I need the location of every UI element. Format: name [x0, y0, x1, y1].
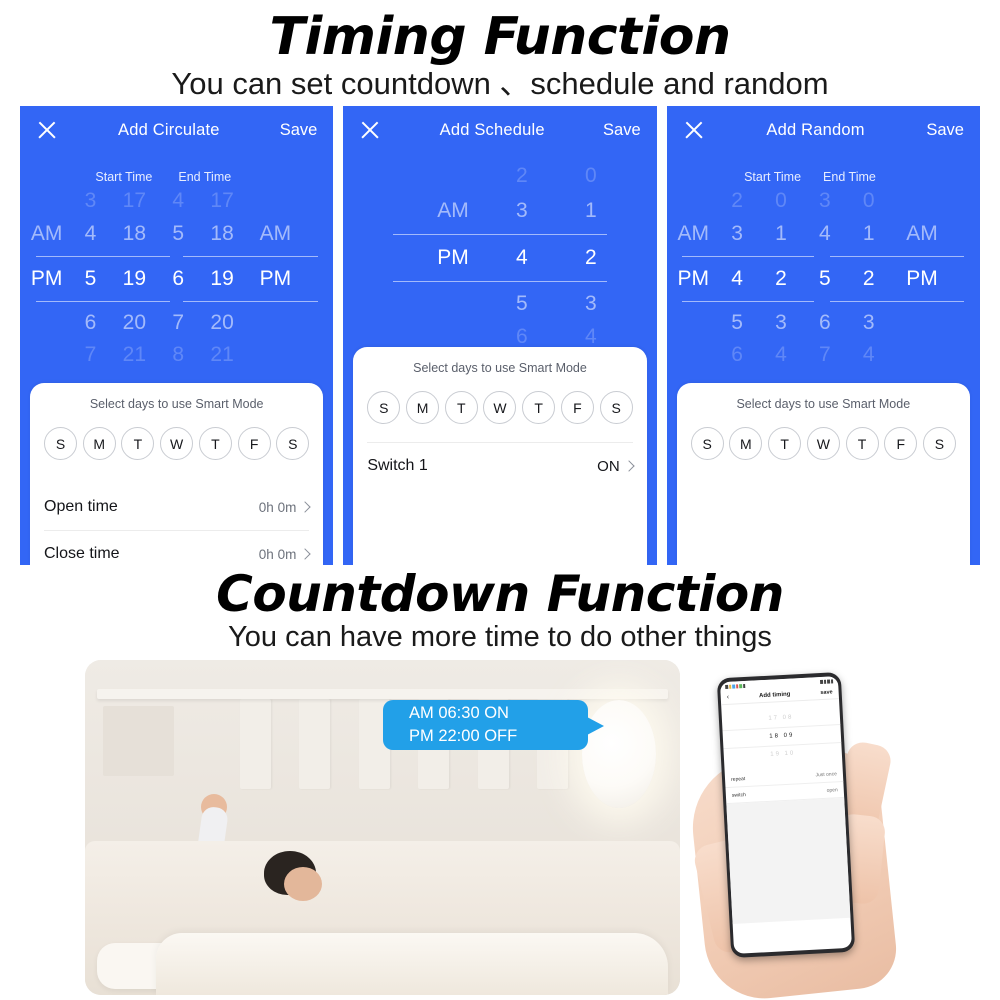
cell: 7	[161, 311, 195, 335]
hand-holding-phone: ‹ Add timing save 17 08 18 09 19 10 repe…	[690, 665, 905, 995]
cell: 5	[161, 222, 195, 246]
cell: 3	[754, 311, 807, 335]
picker-row-faint-bottom: 6 4 7 4	[667, 344, 980, 366]
switch-1-label: Switch 1	[367, 457, 597, 475]
cell: 3	[556, 292, 625, 316]
phone-device: ‹ Add timing save 17 08 18 09 19 10 repe…	[717, 672, 855, 958]
day-button-wed[interactable]: W	[483, 391, 516, 424]
open-time-row[interactable]: Open time 0h 0m	[30, 484, 323, 530]
selection-line-bottom-start	[682, 301, 814, 302]
phone-time-picker[interactable]: 17 08 18 09 19 10	[721, 699, 842, 772]
cell: 2	[720, 189, 754, 213]
card-title: Select days to use Smart Mode	[353, 347, 646, 375]
panel1-title: Add Circulate	[58, 121, 280, 140]
day-button-sat[interactable]: S	[923, 427, 956, 460]
panel-add-schedule: Add Schedule Save 2 0 AM 3 1	[343, 106, 656, 565]
schedule-callout-bubble: AM 06:30 ON PM 22:00 OFF	[383, 700, 588, 750]
cell: 18	[195, 222, 248, 246]
cell: PM	[20, 267, 73, 291]
close-icon[interactable]	[36, 119, 58, 141]
day-button-mon[interactable]: M	[83, 427, 116, 460]
day-button-wed[interactable]: W	[807, 427, 840, 460]
cell: 4	[808, 222, 842, 246]
selection-line-bottom-end	[830, 301, 965, 302]
chevron-right-icon	[300, 501, 311, 512]
save-button[interactable]: Save	[603, 121, 641, 140]
panel1-smart-mode-card: Select days to use Smart Mode S M T W T …	[30, 383, 323, 565]
cell: 5	[808, 267, 842, 291]
close-icon[interactable]	[359, 119, 381, 141]
repeat-value: Just once	[815, 771, 837, 778]
page-root: Timing Function You can set countdown 、s…	[0, 0, 1000, 1000]
picker-row-above: AM 3 1 4 1 AM	[667, 212, 980, 256]
panel3-app-bar: Add Random Save	[667, 106, 980, 154]
picker-row-faint-bottom: 7 21 8 21	[20, 344, 333, 366]
start-time-label: Start Time	[667, 170, 817, 184]
cell: 1	[842, 222, 895, 246]
headboard-slat	[240, 699, 271, 788]
end-time-label: End Time	[170, 170, 333, 184]
day-button-wed[interactable]: W	[160, 427, 193, 460]
day-button-fri[interactable]: F	[561, 391, 594, 424]
picker-row-above: AM 3 1	[343, 188, 656, 234]
day-button-fri[interactable]: F	[884, 427, 917, 460]
cell: 4	[842, 343, 895, 367]
selection-line-bottom-start	[36, 301, 171, 302]
selection-line-top-start	[682, 256, 814, 257]
countdown-section-title: Countdown Function	[0, 566, 1000, 622]
chevron-right-icon	[300, 548, 311, 559]
panel3-time-picker[interactable]: 2 0 3 0 AM 3 1 4 1 AM	[667, 190, 980, 366]
cell: 4	[720, 267, 754, 291]
cell: PM	[419, 246, 488, 270]
phone-save-button[interactable]: save	[820, 689, 833, 696]
open-time-label: Open time	[44, 498, 259, 516]
cell: 19	[195, 267, 248, 291]
bedding	[85, 841, 680, 995]
picker-row-faint-bottom: 6 4	[343, 326, 656, 348]
selection-line-top	[393, 234, 606, 235]
day-button-thu[interactable]: T	[199, 427, 232, 460]
day-button-thu[interactable]: T	[522, 391, 555, 424]
panel2-title: Add Schedule	[381, 121, 603, 140]
duvet	[156, 933, 668, 995]
cell: 7	[73, 343, 107, 367]
cell: AM	[895, 222, 948, 246]
cell: 1	[754, 222, 807, 246]
cell: AM	[249, 222, 302, 246]
cell: 5	[487, 292, 556, 316]
repeat-label: repeat	[731, 776, 745, 783]
day-selector[interactable]: S M T W T F S	[677, 411, 970, 460]
panel3-smart-mode-card: Select days to use Smart Mode S M T W T …	[677, 383, 970, 565]
cell: 6	[808, 311, 842, 335]
panel-add-random: Add Random Save Start Time End Time 2 0 …	[667, 106, 980, 565]
panel2-time-picker[interactable]: 2 0 AM 3 1 PM 4 2	[343, 164, 656, 348]
headboard-slat	[299, 699, 330, 788]
day-button-thu[interactable]: T	[846, 427, 879, 460]
cell: PM	[667, 267, 720, 291]
day-button-sat[interactable]: S	[276, 427, 309, 460]
close-icon[interactable]	[683, 119, 705, 141]
cell: 4	[754, 343, 807, 367]
close-time-label: Close time	[44, 545, 259, 563]
cell: PM	[249, 267, 302, 291]
cell: 3	[720, 222, 754, 246]
phone-panels-row: Add Circulate Save Start Time End Time 3…	[20, 106, 980, 565]
chevron-right-icon	[623, 460, 634, 471]
status-right-icons	[820, 679, 833, 684]
cell: 18	[108, 222, 161, 246]
cell: 20	[108, 311, 161, 335]
panel1-time-picker[interactable]: 3 17 4 17 AM 4 18 5 18 AM	[20, 190, 333, 366]
cell: 5	[73, 267, 107, 291]
headboard-rail	[97, 689, 668, 699]
selection-line-bottom	[393, 281, 606, 282]
start-time-label: Start Time	[20, 170, 170, 184]
cell: 5	[720, 311, 754, 335]
spacer	[353, 424, 646, 442]
cell: 8	[161, 343, 195, 367]
day-selector[interactable]: S M T W T F S	[353, 375, 646, 424]
save-button[interactable]: Save	[280, 121, 318, 140]
phone-screen: ‹ Add timing save 17 08 18 09 19 10 repe…	[720, 676, 852, 954]
cell: 3	[842, 311, 895, 335]
cell: 0	[754, 189, 807, 213]
cell: 6	[720, 343, 754, 367]
day-button-fri[interactable]: F	[238, 427, 271, 460]
switch-1-value: ON	[597, 458, 620, 475]
selection-line-bottom-end	[183, 301, 318, 302]
phone-screen-title: Add timing	[729, 690, 821, 701]
cell: 7	[808, 343, 842, 367]
switch-1-row[interactable]: Switch 1 ON	[353, 443, 646, 489]
panel-add-circulate: Add Circulate Save Start Time End Time 3…	[20, 106, 333, 565]
day-button-tue[interactable]: T	[445, 391, 478, 424]
day-selector[interactable]: S M T W T F S	[30, 411, 323, 460]
selection-line-top-end	[183, 256, 318, 257]
picker-row-faint-top: 2 0 3 0	[667, 190, 980, 212]
cell: 0	[556, 164, 625, 188]
day-button-sun[interactable]: S	[367, 391, 400, 424]
cell: 21	[108, 343, 161, 367]
panel3-title: Add Random	[705, 121, 927, 140]
picker-row-above: AM 4 18 5 18 AM	[20, 212, 333, 256]
timing-section-title: Timing Function	[0, 8, 1000, 66]
save-button[interactable]: Save	[926, 121, 964, 140]
screen-empty-area	[726, 798, 850, 924]
cell: 19	[108, 267, 161, 291]
cell: 3	[808, 189, 842, 213]
cell: 2	[842, 267, 895, 291]
panel1-app-bar: Add Circulate Save	[20, 106, 333, 154]
picker-selected-band: PM 4 2	[343, 234, 656, 282]
switch-value: open	[826, 787, 837, 794]
cell: 0	[842, 189, 895, 213]
picker-row-below: 6 20 7 20	[20, 302, 333, 344]
selection-line-top-start	[36, 256, 171, 257]
cell: 6	[487, 325, 556, 349]
picker-row-below: 5 3 6 3	[667, 302, 980, 344]
countdown-section-subtitle: You can have more time to do other thing…	[0, 620, 1000, 654]
cell: 4	[73, 222, 107, 246]
picker-row-faint-top: 2 0	[343, 164, 656, 188]
day-button-tue[interactable]: T	[121, 427, 154, 460]
bubble-line-1: AM 06:30 ON	[409, 702, 588, 725]
day-button-tue[interactable]: T	[768, 427, 801, 460]
cell: AM	[419, 199, 488, 223]
status-left-icons	[725, 683, 745, 688]
switch-label: switch	[732, 792, 746, 799]
bubble-line-2: PM 22:00 OFF	[409, 725, 588, 748]
panel1-picker-labels: Start Time End Time	[20, 170, 333, 184]
picker-selected-band: PM 5 19 6 19 PM	[20, 256, 333, 302]
day-button-sat[interactable]: S	[600, 391, 633, 424]
cell: 6	[161, 267, 195, 291]
cell: 2	[487, 164, 556, 188]
close-time-row[interactable]: Close time 0h 0m	[30, 531, 323, 565]
cell: 2	[556, 246, 625, 270]
cell: 20	[195, 311, 248, 335]
cell: AM	[20, 222, 73, 246]
end-time-label: End Time	[817, 170, 980, 184]
cell: 17	[108, 189, 161, 213]
picker-selected-band: PM 4 2 5 2 PM	[667, 256, 980, 302]
cell: 2	[754, 267, 807, 291]
panel2-smart-mode-card: Select days to use Smart Mode S M T W T …	[353, 347, 646, 565]
cell: AM	[667, 222, 720, 246]
timing-section-subtitle: You can set countdown 、schedule and rand…	[0, 66, 1000, 102]
cell: 6	[73, 311, 107, 335]
picker-row-below: 5 3	[343, 282, 656, 326]
cell: 3	[487, 199, 556, 223]
selection-line-top-end	[830, 256, 965, 257]
cell: 17	[195, 189, 248, 213]
panel2-app-bar: Add Schedule Save	[343, 106, 656, 154]
spacer	[30, 460, 323, 484]
card-title: Select days to use Smart Mode	[30, 383, 323, 411]
cell: 4	[556, 325, 625, 349]
picker-row-faint-top: 3 17 4 17	[20, 190, 333, 212]
cell: 3	[73, 189, 107, 213]
headboard-panel	[103, 706, 174, 777]
card-title: Select days to use Smart Mode	[677, 383, 970, 411]
day-button-sun[interactable]: S	[44, 427, 77, 460]
cell: 21	[195, 343, 248, 367]
cell: 1	[556, 199, 625, 223]
cell: 4	[161, 189, 195, 213]
day-button-sun[interactable]: S	[691, 427, 724, 460]
close-time-value: 0h 0m	[259, 547, 297, 562]
cell: 4	[487, 246, 556, 270]
panel3-picker-labels: Start Time End Time	[667, 170, 980, 184]
cell: PM	[895, 267, 948, 291]
open-time-value: 0h 0m	[259, 500, 297, 515]
day-button-mon[interactable]: M	[406, 391, 439, 424]
day-button-mon[interactable]: M	[729, 427, 762, 460]
